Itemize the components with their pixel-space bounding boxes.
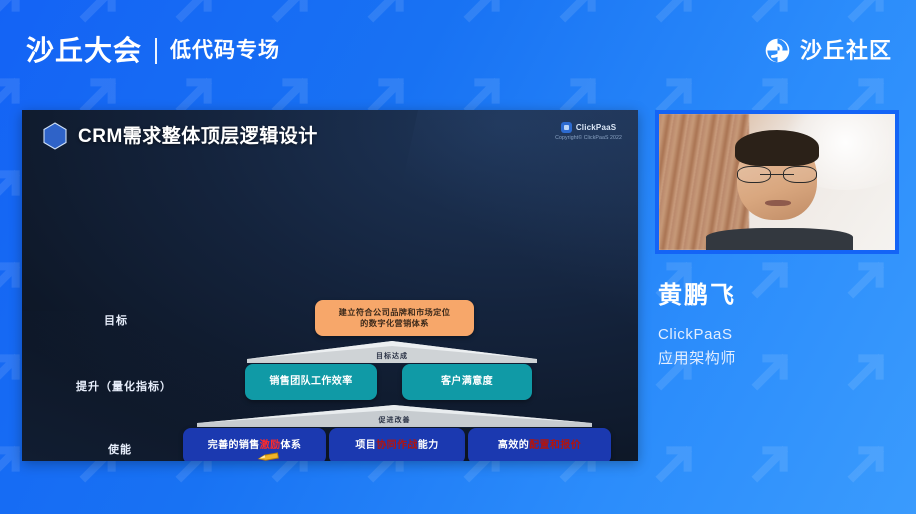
enable-2-highlight: 协同作战 (376, 440, 418, 451)
slide-title: CRM需求整体顶层逻辑设计 (78, 127, 318, 146)
arrow-watermark-icon (652, 440, 698, 486)
webcam-video-feed (659, 114, 895, 250)
chevron-goal-achieve: 目标达成 (247, 341, 537, 363)
enable-3-prefix: 高效的 (498, 440, 529, 451)
speaker-name: 黄鹏飞 (658, 283, 908, 309)
slide-header: CRM需求整体顶层逻辑设计 (42, 122, 318, 150)
enable-2-prefix: 项目 (355, 440, 376, 451)
speaker-webcam[interactable] (655, 110, 899, 254)
enable-1-suffix: 体系 (281, 440, 302, 451)
speaker-organization: ClickPaaS (658, 323, 908, 346)
vendor-logo: ClickPaaS Copyright© ClickPaaS 2022 (555, 122, 622, 141)
chevron-label-1: 目标达成 (376, 351, 408, 363)
enable-box-3: 高效的配置和报价 (468, 428, 611, 461)
enable-3-highlight: 配置和报价 (529, 440, 581, 451)
enable-2-suffix: 能力 (418, 440, 439, 451)
event-session-name: 低代码专场 (170, 40, 280, 61)
vendor-name: ClickPaaS (576, 123, 617, 132)
chevron-label-2: 促进改善 (379, 415, 411, 427)
header-divider (155, 38, 157, 64)
enable-1-highlight: 激励 (260, 440, 281, 451)
slide-area: CRM需求整体顶层逻辑设计 ClickPaaS Copyright© Click… (22, 110, 638, 461)
chevron-promote-improve: 促进改善 (197, 405, 592, 427)
community-logo: 沙丘社区 (764, 37, 892, 64)
hexagon-icon (42, 122, 68, 150)
enable-box-2: 项目协同作战能力 (329, 428, 465, 461)
goal-box: 建立符合公司品牌和市场定位 的数字化营销体系 (315, 300, 474, 336)
speaker-info: 黄鹏飞 ClickPaaS 应用架构师 (658, 283, 908, 370)
event-title: 沙丘大会 (26, 37, 142, 65)
improve-box-1: 销售团队工作效率 (245, 364, 377, 400)
goal-line-2: 的数字化营销体系 (360, 319, 429, 328)
glasses-bridge (760, 174, 793, 175)
event-header: 沙丘大会 低代码专场 沙丘社区 (0, 0, 916, 101)
row-label-enable: 使能 (108, 441, 132, 457)
enable-1-prefix: 完善的销售 (208, 440, 260, 451)
speaker-hair (735, 130, 820, 165)
arrow-watermark-icon (748, 440, 794, 486)
row-label-improve: 提升（量化指标） (76, 378, 172, 394)
enable-box-1: 完善的销售激励体系 (183, 428, 326, 461)
event-branding: 沙丘大会 低代码专场 (26, 37, 280, 65)
clickpaas-logo-icon (561, 122, 572, 133)
speaker-role: 应用架构师 (658, 347, 908, 370)
arrow-watermark-icon (844, 440, 890, 486)
sandhill-s-mark-icon (764, 37, 791, 64)
presentation-stage: 沙丘大会 低代码专场 沙丘社区 (0, 0, 916, 514)
vendor-copyright: Copyright© ClickPaaS 2022 (555, 135, 622, 141)
row-label-goal: 目标 (104, 312, 128, 328)
community-logo-text: 沙丘社区 (800, 40, 892, 62)
goal-line-1: 建立符合公司品牌和市场定位 (339, 308, 451, 317)
improve-box-2: 客户满意度 (402, 364, 532, 400)
speaker-torso (706, 228, 852, 250)
